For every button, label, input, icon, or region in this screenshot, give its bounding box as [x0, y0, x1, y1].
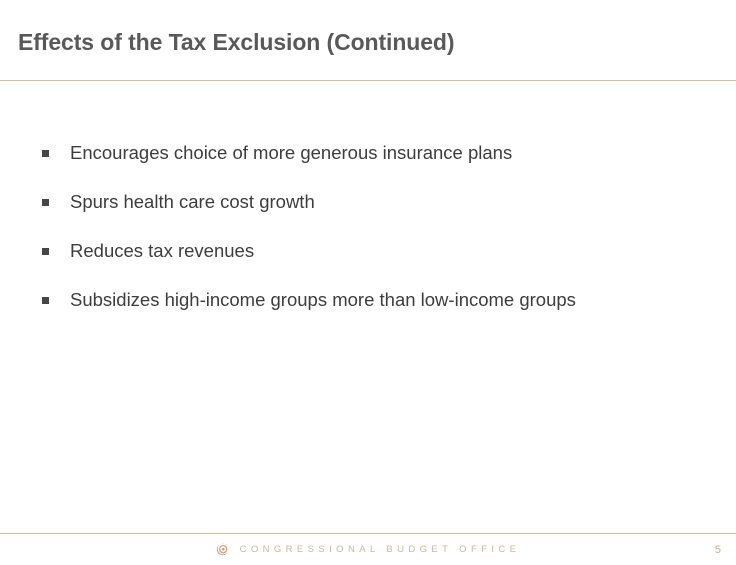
- cbo-spiral-logo-icon: [216, 543, 229, 556]
- square-bullet-icon: [42, 297, 49, 304]
- footer-branding: CONGRESSIONAL BUDGET OFFICE: [0, 534, 736, 565]
- title-divider: [0, 80, 736, 81]
- square-bullet-icon: [42, 248, 49, 255]
- list-item: Encourages choice of more generous insur…: [40, 141, 720, 190]
- list-item: Subsidizes high-income groups more than …: [40, 288, 720, 337]
- footer: CONGRESSIONAL BUDGET OFFICE 5: [0, 534, 736, 565]
- list-item: Spurs health care cost growth: [40, 190, 720, 239]
- list-item-label: Subsidizes high-income groups more than …: [70, 288, 720, 312]
- page-title: Effects of the Tax Exclusion (Continued): [18, 25, 718, 59]
- bullet-list: Encourages choice of more generous insur…: [40, 141, 720, 337]
- list-item: Reduces tax revenues: [40, 239, 720, 288]
- page-number: 5: [715, 534, 721, 565]
- list-item-label: Spurs health care cost growth: [70, 190, 720, 214]
- square-bullet-icon: [42, 199, 49, 206]
- footer-organization-label: CONGRESSIONAL BUDGET OFFICE: [240, 544, 521, 555]
- list-item-label: Reduces tax revenues: [70, 239, 720, 263]
- square-bullet-icon: [42, 150, 49, 157]
- slide: Effects of the Tax Exclusion (Continued)…: [0, 0, 736, 565]
- list-item-label: Encourages choice of more generous insur…: [70, 141, 720, 165]
